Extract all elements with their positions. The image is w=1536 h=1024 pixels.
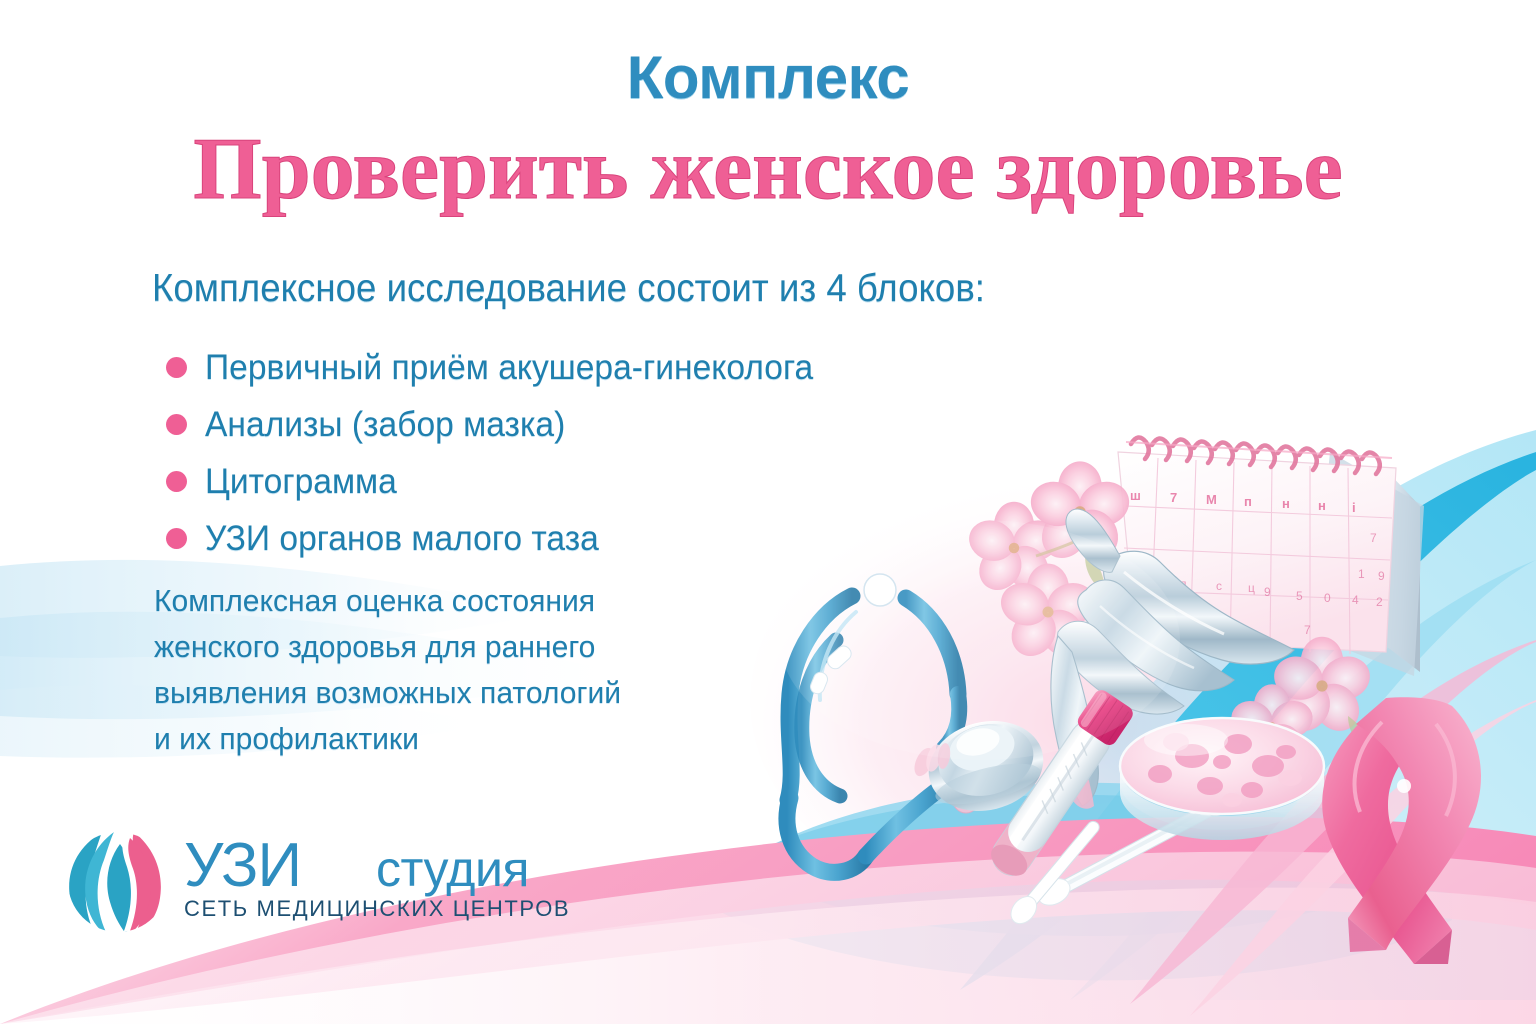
brand-secondary-text: студия	[376, 841, 529, 897]
service-blocks-list: Первичный приём акушера-гинеколога Анали…	[166, 340, 839, 568]
petri-dish-icon	[1120, 718, 1324, 840]
svg-text:7: 7	[1370, 531, 1377, 545]
description-line: Комплексная оценка состояния	[154, 578, 775, 624]
page-title: Проверить женское здоровье	[0, 124, 1536, 216]
kicker-title: Комплекс	[0, 48, 1536, 108]
svg-text:7: 7	[1170, 490, 1177, 505]
svg-text:9: 9	[1378, 569, 1385, 583]
brand-lockup: УЗИ студия СЕТЬ МЕДИЦИНСКИХ ЦЕНТРОВ	[184, 826, 570, 922]
svg-text:2: 2	[1376, 595, 1383, 609]
svg-text:9: 9	[1264, 585, 1271, 599]
svg-text:с: с	[1216, 579, 1222, 593]
svg-text:ц: ц	[1248, 581, 1255, 595]
uzistudio-circle-emblem-icon	[62, 826, 174, 938]
list-item-label: Цитограмма	[205, 462, 397, 502]
description-line: выявления возможных патологий	[154, 670, 775, 716]
description-line: и их профилактики	[154, 716, 775, 762]
svg-text:5: 5	[1296, 589, 1303, 603]
svg-text:п: п	[1244, 494, 1252, 509]
list-item-label: Анализы (забор мазка)	[205, 405, 565, 445]
bullet-dot-icon	[166, 357, 187, 378]
svg-text:4: 4	[1352, 593, 1359, 607]
description-paragraph: Комплексная оценка состояния женского зд…	[154, 578, 775, 762]
list-item-label: УЗИ органов малого таза	[205, 519, 599, 559]
bullet-dot-icon	[166, 528, 187, 549]
svg-text:0: 0	[1324, 591, 1331, 605]
list-item: УЗИ органов малого таза	[166, 511, 839, 566]
svg-text:н: н	[1282, 496, 1290, 511]
svg-text:ш: ш	[1130, 488, 1141, 503]
bullet-dot-icon	[166, 471, 187, 492]
brand-logo[interactable]: УЗИ студия СЕТЬ МЕДИЦИНСКИХ ЦЕНТРОВ	[62, 826, 570, 938]
list-item: Цитограмма	[166, 454, 839, 509]
subtitle: Комплексное исследование состоит из 4 бл…	[152, 267, 985, 311]
brand-tagline: СЕТЬ МЕДИЦИНСКИХ ЦЕНТРОВ	[184, 896, 570, 922]
svg-text:7: 7	[1304, 623, 1311, 637]
svg-text:н: н	[1318, 498, 1326, 513]
brand-wordmark: УЗИ студия	[184, 836, 564, 898]
svg-text:і: і	[1352, 500, 1356, 515]
list-item: Первичный приём акушера-гинеколога	[166, 340, 839, 395]
pink-awareness-ribbon-icon	[1322, 697, 1481, 964]
promo-banner: ш7 Мп нн і 71 99 50 42 пс ц7	[0, 0, 1536, 1024]
description-line: женского здоровья для раннего	[154, 624, 775, 670]
brand-primary-text: УЗИ	[184, 836, 301, 898]
list-item: Анализы (забор мазка)	[166, 397, 839, 452]
list-item-label: Первичный приём акушера-гинеколога	[205, 348, 813, 388]
svg-text:1: 1	[1358, 567, 1365, 581]
bullet-dot-icon	[166, 414, 187, 435]
svg-text:М: М	[1206, 492, 1217, 507]
